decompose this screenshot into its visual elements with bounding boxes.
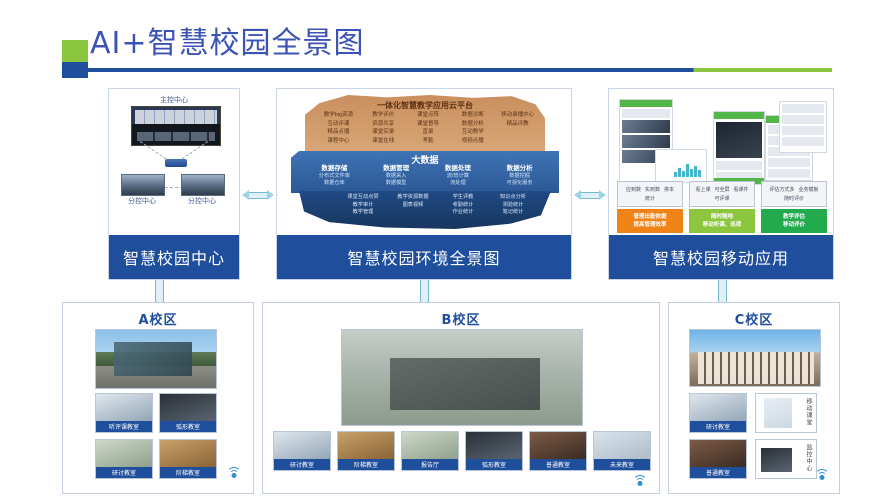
campus-a-thumb-2[interactable]: 研讨教室 (95, 439, 153, 479)
campus-c-thumb-mobile[interactable]: 移动课堂 (755, 393, 817, 433)
highlight-line: 管理出勤依据 (633, 213, 666, 221)
platform-item: 精品评教 (496, 121, 539, 129)
panel-smart-campus-center[interactable]: 主控中心 分控中心 分控中心 智慧校园中心 (108, 88, 240, 280)
campus-a-thumb-0[interactable]: 听评课教室 (95, 393, 153, 433)
campus-a-thumb-3-label: 阶梯教室 (160, 467, 216, 478)
tag-label: 应到数 (626, 186, 641, 194)
data-source-item: 课堂互动点赞 (339, 194, 387, 202)
highlight-line: 随时随地 (711, 213, 733, 221)
campus-b-thumb-4[interactable]: 普通教室 (529, 431, 587, 471)
data-source-item: 测验统计 (489, 202, 537, 210)
tag-group-evaluation: 评估方式多业务模板随时评价 (761, 181, 827, 207)
platform-item: 互动教学 (451, 129, 494, 137)
campus-c-building-photo (689, 329, 821, 387)
data-source-items: 课堂互动点赞教学审计教学管理教学资源数据图表视频学生评教考勤统计作业统计知识点分… (339, 194, 537, 217)
mobile-app-screens: 应到数实到数排本统计 看上课可全屏看课件可评课 评估方式多业务模板随时评价 管理… (609, 89, 833, 235)
highlight-line: 教学评估 (783, 213, 805, 221)
campus-b-title: B校区 (263, 309, 659, 328)
panel-right-caption: 智慧校园移动应用 (609, 235, 833, 279)
tag-label: 排本 (664, 186, 674, 194)
data-source-item: 作业统计 (439, 209, 487, 217)
big-data-sub-item: 数据仓库 (305, 180, 364, 187)
platform-item: 教学评价 (362, 112, 405, 120)
highlight-box-teaching-eval: 教学评估移动评价 (761, 209, 827, 233)
data-source-column-3: 知识点分析测验统计笔记统计 (489, 194, 537, 217)
campus-a-title: A校区 (63, 309, 253, 328)
data-source-item: 教学管理 (339, 209, 387, 217)
control-center-diagram: 主控中心 分控中心 分控中心 (109, 89, 239, 235)
platform-item: 教学big资源 (317, 112, 360, 120)
arrow-left-center (242, 190, 274, 200)
tag-label: 可全屏 (714, 186, 729, 194)
tag-group-class: 看上课可全屏看课件可评课 (689, 181, 755, 207)
campus-a-thumb-2-label: 研讨教室 (96, 467, 152, 478)
main-control-center-label: 主控中心 (109, 95, 239, 105)
platform-item: 视频点播 (451, 138, 494, 146)
big-data-column-2: 数据处理流/增计算流处理 (429, 164, 488, 187)
platform-item: 移动录播中心 (496, 112, 539, 120)
campus-a-thumb-3[interactable]: 阶梯教室 (159, 439, 217, 479)
campus-c-title: C校区 (669, 309, 839, 328)
tag-label: 看上课 (695, 186, 710, 194)
campus-panel-c[interactable]: C校区 研讨教室 普通教室 移动课堂 监控中心 (668, 302, 840, 494)
wifi-icon (227, 467, 241, 478)
big-data-column-head: 数据分析 (490, 164, 549, 173)
page-header: AI+智慧校园全景图 (0, 0, 889, 78)
campus-c-thumb-0-label: 研讨教室 (690, 421, 746, 432)
sub-control-center-right-label: 分控中心 (180, 196, 224, 206)
big-data-columns: 数据存储分布式文件库数据仓库数据管理数据采入数据模型数据处理流/增计算流处理数据… (305, 164, 549, 187)
campus-c-thumb-monitor[interactable]: 监控中心 (755, 439, 817, 479)
campus-c-vertical-label-1: 监控中心 (804, 444, 813, 472)
sub-control-image-right (181, 174, 225, 196)
big-data-sub-item: 数据模型 (367, 180, 426, 187)
campus-a-thumb-1[interactable]: 弧形教室 (159, 393, 217, 433)
big-data-sub-item: 流/增计算 (429, 173, 488, 180)
app-screenshot-report (779, 101, 827, 153)
big-data-sub-item: 数据挖掘 (490, 173, 549, 180)
connector-left-down (155, 280, 164, 302)
campus-c-thumb-1[interactable]: 普通教室 (689, 439, 747, 479)
wifi-icon (633, 475, 647, 486)
data-source-column-2: 学生评教考勤统计作业统计 (439, 194, 487, 217)
connector-right-down (718, 280, 727, 302)
big-data-sub-item: 流处理 (429, 180, 488, 187)
platform-column-3: 数据诊断数据分析互动教学视频点播 (451, 112, 494, 145)
campus-panel-a[interactable]: A校区 听评课教室 弧形教室 研讨教室 阶梯教室 (62, 302, 254, 494)
tag-label: 可评课 (714, 195, 729, 203)
data-source-layer: 课堂互动点赞教学审计教学管理教学资源数据图表视频学生评教考勤统计作业统计知识点分… (299, 191, 551, 229)
data-source-item: 考勤统计 (439, 202, 487, 210)
tag-label: 看课件 (734, 186, 749, 194)
campus-b-thumb-5-label: 未来教室 (594, 459, 650, 470)
campus-b-thumb-1-label: 阶梯教室 (338, 459, 394, 470)
tag-label: 统计 (645, 195, 655, 203)
panel-smart-campus-mobile-app[interactable]: 应到数实到数排本统计 看上课可全屏看课件可评课 评估方式多业务模板随时评价 管理… (608, 88, 834, 280)
tag-label: 随时评价 (784, 195, 804, 203)
campus-c-thumb-0[interactable]: 研讨教室 (689, 393, 747, 433)
campus-b-thumb-4-label: 普通教室 (530, 459, 586, 470)
platform-column-1: 教学评价资源共享课堂实录课堂在线 (362, 112, 405, 145)
data-source-item: 教学资源数据 (389, 194, 437, 202)
campus-a-building-photo (95, 329, 217, 389)
big-data-sub-item: 分布式文件库 (305, 173, 364, 180)
platform-title: 一体化智慧教学应用云平台 (305, 100, 545, 111)
campus-b-thumb-5[interactable]: 未来教室 (593, 431, 651, 471)
panel-smart-campus-environment[interactable]: 一体化智慧教学应用云平台 教学big资源互动评课精品点播课程中心教学评价资源共享… (276, 88, 572, 280)
big-data-column-0: 数据存储分布式文件库数据仓库 (305, 164, 364, 187)
data-source-item: 知识点分析 (489, 194, 537, 202)
platform-item: 课堂实录 (362, 129, 405, 137)
campus-b-thumb-2[interactable]: 报告厅 (401, 431, 459, 471)
platform-item: 资源共享 (362, 121, 405, 129)
platform-column-4: 移动录播中心精品评教 (496, 112, 539, 145)
page-title: AI+智慧校园全景图 (90, 18, 365, 62)
highlight-line: 移动评价 (783, 221, 805, 229)
platform-column-2: 课堂点阵课堂督导直录考勤 (407, 112, 450, 145)
campus-a-thumb-1-label: 弧形教室 (160, 421, 216, 432)
wifi-icon (815, 469, 829, 480)
header-divider (62, 68, 832, 72)
platform-item: 数据分析 (451, 121, 494, 129)
data-source-column-0: 课堂互动点赞教学审计教学管理 (339, 194, 387, 217)
platform-item: 直录 (407, 129, 450, 137)
campus-a-thumb-0-label: 听评课教室 (96, 421, 152, 432)
platform-item: 数据诊断 (451, 112, 494, 120)
campus-b-thumb-0[interactable]: 研讨教室 (273, 431, 331, 471)
connector-center-down (420, 280, 429, 302)
sub-control-image-left (121, 174, 165, 196)
brain-platform-diagram: 一体化智慧教学应用云平台 教学big资源互动评课精品点播课程中心教学评价资源共享… (277, 89, 571, 235)
campus-b-thumb-3-label: 弧形教室 (466, 459, 522, 470)
application-platform-layer: 一体化智慧教学应用云平台 教学big资源互动评课精品点播课程中心教学评价资源共享… (305, 95, 545, 153)
highlight-box-anywhere: 随时随地移动听课、巡视 (689, 209, 755, 233)
data-source-column-1: 教学资源数据图表视频 (389, 194, 437, 217)
platform-item: 精品点播 (317, 129, 360, 137)
server-icon (165, 159, 187, 167)
platform-item: 课堂点阵 (407, 112, 450, 120)
platform-column-0: 教学big资源互动评课精品点播课程中心 (317, 112, 360, 145)
highlight-box-management: 管理出勤依据提高管理效率 (617, 209, 683, 233)
tag-label: 实到数 (645, 186, 660, 194)
panel-left-caption: 智慧校园中心 (109, 235, 239, 279)
app-screenshot-live-class (713, 111, 765, 185)
campus-b-thumb-1[interactable]: 阶梯教室 (337, 431, 395, 471)
panel-center-caption: 智慧校园环境全景图 (277, 235, 571, 279)
campus-b-thumb-0-label: 研讨教室 (274, 459, 330, 470)
big-data-sub-item: 数据采入 (367, 173, 426, 180)
data-source-item: 笔记统计 (489, 209, 537, 217)
data-source-item: 图表视频 (389, 202, 437, 210)
big-data-column-head: 数据处理 (429, 164, 488, 173)
data-source-item: 教学审计 (339, 202, 387, 210)
platform-item: 互动评课 (317, 121, 360, 129)
platform-item: 课程中心 (317, 138, 360, 146)
campus-c-thumb-1-label: 普通教室 (690, 467, 746, 478)
campus-b-building-photo (341, 329, 583, 426)
sub-control-center-left-label: 分控中心 (120, 196, 164, 206)
arrow-center-right (574, 190, 606, 200)
data-source-item: 学生评教 (439, 194, 487, 202)
platform-item: 课堂督导 (407, 121, 450, 129)
highlight-line: 移动听课、巡视 (703, 221, 742, 229)
big-data-column-head: 数据管理 (367, 164, 426, 173)
big-data-column-3: 数据分析数据挖掘可视化服务 (490, 164, 549, 187)
campus-b-thumb-2-label: 报告厅 (402, 459, 458, 470)
tag-group-attendance: 应到数实到数排本统计 (617, 181, 683, 207)
big-data-sub-item: 可视化服务 (490, 180, 549, 187)
platform-items-grid: 教学big资源互动评课精品点播课程中心教学评价资源共享课堂实录课堂在线课堂点阵课… (317, 112, 539, 145)
big-data-column-1: 数据管理数据采入数据模型 (367, 164, 426, 187)
app-screenshot-chart (655, 149, 707, 183)
tag-label: 评估方式多 (769, 186, 794, 194)
platform-item: 考勤 (407, 138, 450, 146)
big-data-layer: 大数据 数据存储分布式文件库数据仓库数据管理数据采入数据模型数据处理流/增计算流… (291, 151, 559, 193)
campus-c-vertical-label-0: 移动课堂 (804, 398, 813, 426)
highlight-line: 提高管理效率 (633, 221, 666, 229)
tag-label: 业务模板 (799, 186, 819, 194)
platform-item: 课堂在线 (362, 138, 405, 146)
big-data-column-head: 数据存储 (305, 164, 364, 173)
campus-panel-b[interactable]: B校区 研讨教室 阶梯教室 报告厅 弧形教室 普通教室 未来教室 (262, 302, 660, 494)
campus-b-thumb-3[interactable]: 弧形教室 (465, 431, 523, 471)
